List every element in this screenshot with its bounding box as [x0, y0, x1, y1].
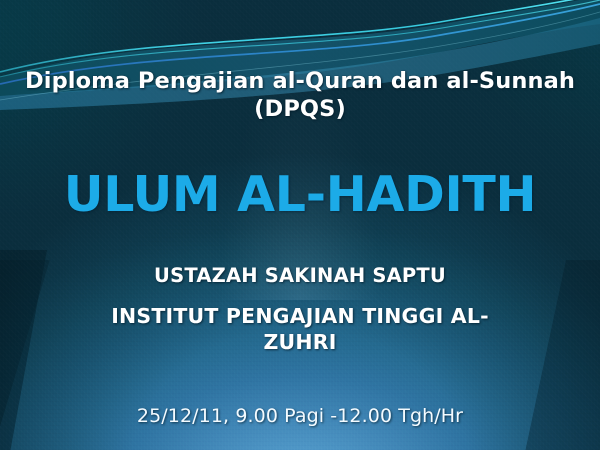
presenter-name: USTAZAH SAKINAH SAPTU	[38, 266, 562, 286]
course-title-line-2: (DPQS)	[254, 96, 346, 122]
institution-name: INSTITUT PENGAJIAN TINGGI AL- ZUHRI	[38, 303, 562, 355]
session-datetime: 25/12/11, 9.00 Pagi -12.00 Tgh/Hr	[38, 405, 562, 428]
course-title: Diploma Pengajian al-Quran dan al-Sunnah…	[18, 68, 582, 123]
slide-text-layer: Diploma Pengajian al-Quran dan al-Sunnah…	[0, 0, 600, 450]
course-title-line-1: Diploma Pengajian al-Quran dan al-Sunnah	[25, 68, 575, 94]
institution-line-2: ZUHRI	[263, 330, 336, 354]
slide-main-title: ULUM AL-HADITH	[18, 170, 582, 221]
institution-line-1: INSTITUT PENGAJIAN TINGGI AL-	[111, 304, 489, 328]
presentation-slide: Diploma Pengajian al-Quran dan al-Sunnah…	[0, 0, 600, 450]
